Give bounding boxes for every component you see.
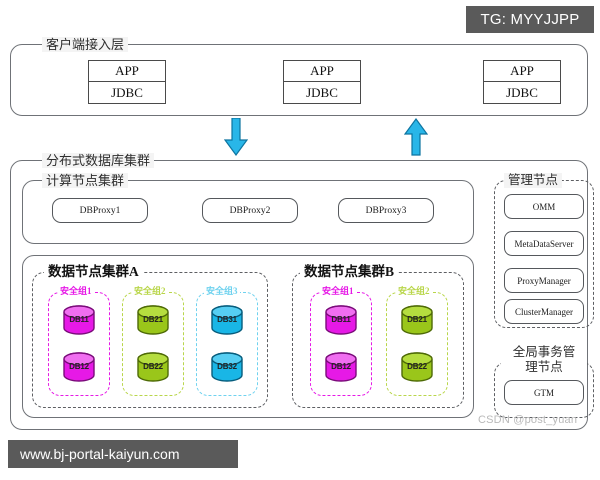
global-transaction-panel-title-line1: 全局事务管 bbox=[501, 345, 587, 360]
management-node-metadataserver[interactable]: MetaDataServer bbox=[504, 231, 584, 256]
dbproxy-2[interactable]: DBProxy2 bbox=[202, 198, 298, 223]
global-transaction-panel-title-line2: 理节点 bbox=[501, 360, 587, 375]
jdbc-label: JDBC bbox=[484, 82, 560, 103]
jdbc-label: JDBC bbox=[284, 82, 360, 103]
up-arrow-icon bbox=[404, 118, 428, 161]
security-group-b1-label: 安全组1 bbox=[320, 286, 356, 297]
management-node-omm[interactable]: OMM bbox=[504, 194, 584, 219]
db-cylinder-a1-2: DB12 bbox=[62, 352, 96, 382]
app-label: APP bbox=[284, 61, 360, 82]
client-node-2: APP JDBC bbox=[283, 60, 361, 104]
db-cylinder-b1-1: DB11 bbox=[324, 305, 358, 335]
client-node-3: APP JDBC bbox=[483, 60, 561, 104]
down-arrow-icon bbox=[224, 118, 248, 161]
management-node-clustermanager[interactable]: ClusterManager bbox=[504, 299, 584, 324]
security-group-a1-label: 安全组1 bbox=[58, 286, 94, 297]
db-cylinder-b2-2: DB22 bbox=[400, 352, 434, 382]
site-watermark: www.bj-portal-kaiyun.com bbox=[8, 440, 238, 468]
db-cylinder-b2-1: DB21 bbox=[400, 305, 434, 335]
diagram-canvas: TG: MYYJJPP 客户端接入层 APP JDBC APP JDBC APP… bbox=[0, 0, 600, 480]
jdbc-label: JDBC bbox=[89, 82, 165, 103]
db-cylinder-a2-1: DB21 bbox=[136, 305, 170, 335]
csdn-watermark: CSDN @post_yuan bbox=[478, 414, 577, 426]
security-group-b2-label: 安全组2 bbox=[396, 286, 432, 297]
app-label: APP bbox=[484, 61, 560, 82]
global-transaction-node-gtm[interactable]: GTM bbox=[504, 380, 584, 405]
management-panel-title: 管理节点 bbox=[504, 173, 562, 188]
compute-cluster-title: 计算节点集群 bbox=[42, 173, 128, 188]
client-node-1: APP JDBC bbox=[88, 60, 166, 104]
client-access-layer-title: 客户端接入层 bbox=[42, 37, 128, 52]
data-cluster-b-title: 数据节点集群B bbox=[300, 264, 398, 279]
dbproxy-3[interactable]: DBProxy3 bbox=[338, 198, 434, 223]
db-cylinder-a3-2: DB32 bbox=[210, 352, 244, 382]
management-node-proxymanager[interactable]: ProxyManager bbox=[504, 268, 584, 293]
tg-watermark-badge: TG: MYYJJPP bbox=[466, 6, 594, 33]
db-cylinder-a3-1: DB31 bbox=[210, 305, 244, 335]
dbproxy-1[interactable]: DBProxy1 bbox=[52, 198, 148, 223]
db-cylinder-a2-2: DB22 bbox=[136, 352, 170, 382]
data-cluster-a-title: 数据节点集群A bbox=[44, 264, 143, 279]
app-label: APP bbox=[89, 61, 165, 82]
distributed-cluster-title: 分布式数据库集群 bbox=[42, 153, 154, 168]
db-cylinder-b1-2: DB12 bbox=[324, 352, 358, 382]
db-cylinder-a1-1: DB11 bbox=[62, 305, 96, 335]
security-group-a3-label: 安全组3 bbox=[204, 286, 240, 297]
security-group-a2-label: 安全组2 bbox=[132, 286, 168, 297]
